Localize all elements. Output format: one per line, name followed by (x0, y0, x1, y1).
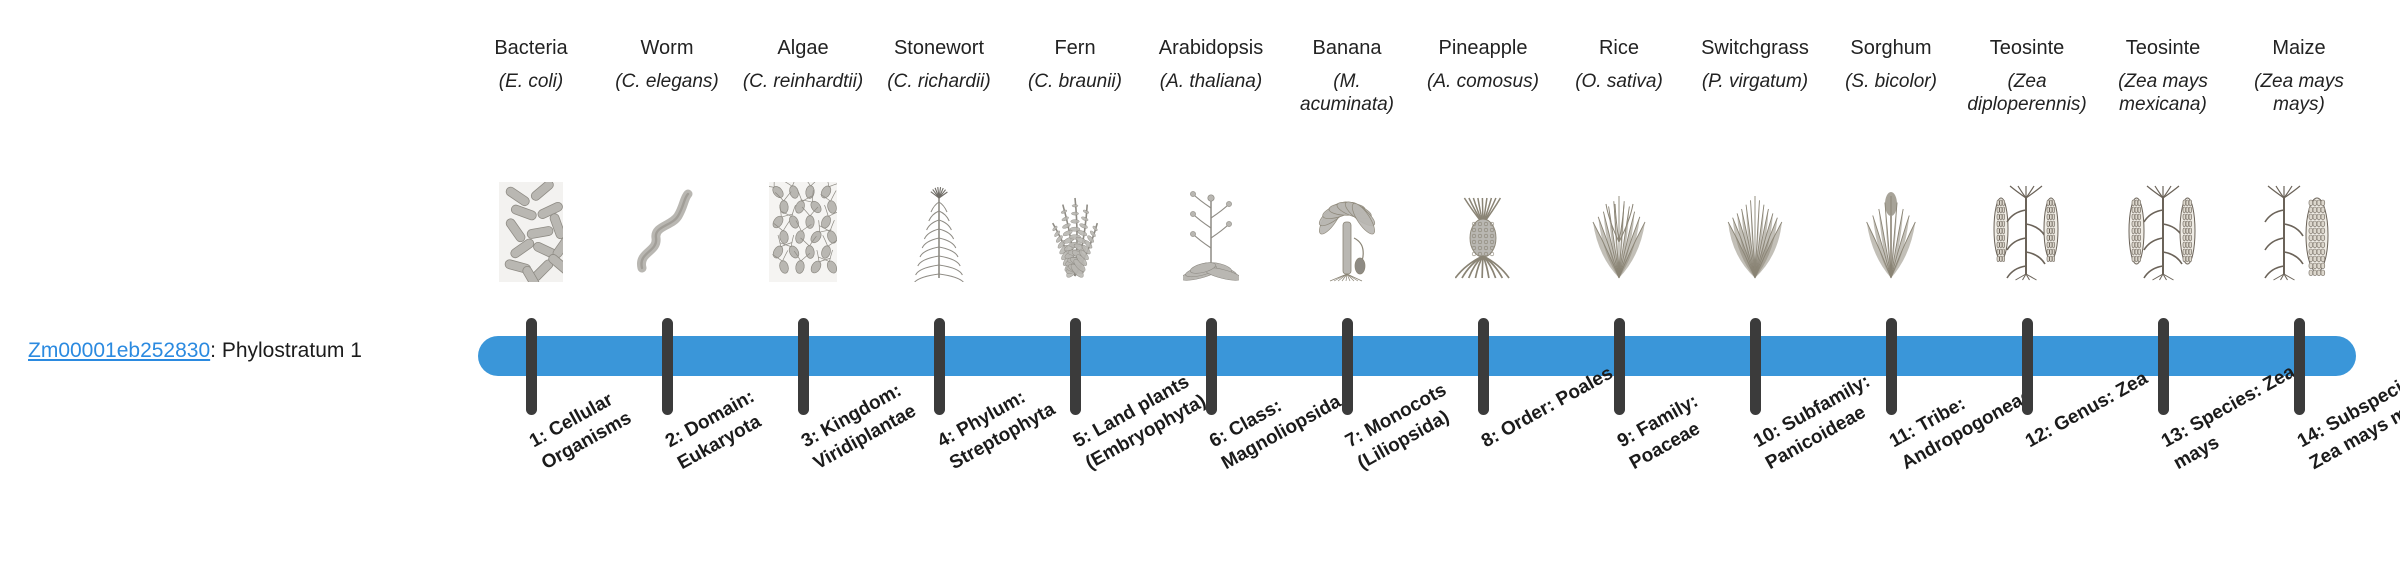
species-scientific-name: (Zea diploperennis) (1964, 70, 2090, 116)
species-common-name: Rice (1556, 36, 1682, 60)
phylostratum-rank: Family: Poaceae (1626, 391, 1704, 474)
species-scientific-name: (C. reinhardtii) (740, 70, 866, 116)
species-scientific-name: (C. elegans) (604, 70, 730, 116)
species-common-name: Worm (604, 36, 730, 60)
species-column-maize-13: Maize(Zea mays mays) (2236, 0, 2362, 116)
phylostratum-number: 2: (662, 426, 687, 453)
phylostratum-rank: Genus: Zea (2051, 368, 2152, 437)
phylostratum-rank: Tribe: Andropogoneae (1898, 385, 2036, 474)
phylostratum-rank: Species: Zea mays (2170, 362, 2298, 474)
species-common-name: Pineapple (1420, 36, 1546, 60)
phylostratum-rank: Land plants (Embryophyta) (1082, 371, 1209, 474)
phylostratum-tick-8[interactable] (1478, 318, 1489, 415)
phylostratum-rank: Cellular Organisms (538, 389, 635, 474)
phylostratum-number: 9: (1614, 426, 1639, 453)
phylostratum-tick-7[interactable] (1342, 318, 1353, 415)
phylostratum-tick-6[interactable] (1206, 318, 1217, 415)
species-column-bacteria-0: Bacteria(E. coli) (468, 0, 594, 116)
phylostratum-tick-3[interactable] (798, 318, 809, 415)
species-common-name: Stonewort (876, 36, 1002, 60)
species-column-stonewort-3: Stonewort(C. richardii) (876, 0, 1002, 116)
phylostratum-rank: Domain: Eukaryota (674, 386, 765, 474)
species-common-name: Fern (1012, 36, 1138, 60)
teosinte-diploperennis-illustration (1964, 172, 2090, 282)
bacteria-illustration (468, 172, 594, 282)
species-common-name: Sorghum (1828, 36, 1954, 60)
phylostratum-number: 5: (1070, 426, 1095, 453)
phylostratum-tick-1[interactable] (526, 318, 537, 415)
species-column-arabidopsis-5: Arabidopsis(A. thaliana) (1148, 0, 1274, 116)
species-scientific-name: (M. acuminata) (1284, 70, 1410, 116)
gene-phylostratum-label: Zm00001eb252830: Phylostratum 1 (28, 338, 448, 364)
gene-label-separator: : (210, 339, 222, 362)
sorghum-illustration (1828, 172, 1954, 282)
arabidopsis-illustration (1148, 172, 1274, 282)
species-scientific-name: (S. bicolor) (1828, 70, 1954, 116)
banana-illustration (1284, 172, 1410, 282)
phylostratum-number: 7: (1342, 426, 1367, 453)
species-column-algae-2: Algae(C. reinhardtii) (740, 0, 866, 116)
phylostratum-rank: Phylum: Streptophyta (946, 387, 1059, 474)
species-common-name: Bacteria (468, 36, 594, 60)
species-scientific-name: (Zea mays mexicana) (2100, 70, 2226, 116)
phylostratum-number: 8: (1478, 426, 1503, 453)
phylostratum-bar[interactable] (478, 336, 2356, 376)
phylostratum-tick-9[interactable] (1614, 318, 1625, 415)
phylostratum-tick-10[interactable] (1750, 318, 1761, 415)
gene-id-link[interactable]: Zm00001eb252830 (28, 339, 210, 362)
rice-illustration (1556, 172, 1682, 282)
phylostratum-tick-2[interactable] (662, 318, 673, 415)
phylostratum-number: 3: (798, 426, 823, 453)
algae-illustration (740, 172, 866, 282)
phylostratum-rank: Class: Magnoliopsida (1218, 391, 1345, 474)
gene-phylostratum-value: Phylostratum 1 (222, 339, 362, 362)
species-scientific-name: (C. richardii) (876, 70, 1002, 116)
species-column-pineapple-7: Pineapple(A. comosus) (1420, 0, 1546, 116)
species-common-name: Switchgrass (1692, 36, 1818, 60)
phylostratum-number: 6: (1206, 426, 1231, 453)
species-column-rice-8: Rice(O. sativa) (1556, 0, 1682, 116)
phylostratum-figure: Zm00001eb252830: Phylostratum 1 Bacteria… (0, 0, 2400, 580)
species-scientific-name: (A. thaliana) (1148, 70, 1274, 116)
phylostratum-tick-5[interactable] (1070, 318, 1081, 415)
worm-illustration (604, 172, 730, 282)
maize-illustration (2236, 172, 2362, 282)
phylostratum-tick-4[interactable] (934, 318, 945, 415)
species-column-teosinte-11: Teosinte(Zea diploperennis) (1964, 0, 2090, 116)
species-column-worm-1: Worm(C. elegans) (604, 0, 730, 116)
species-scientific-name: (C. braunii) (1012, 70, 1138, 116)
species-column-switchgrass-9: Switchgrass(P. virgatum) (1692, 0, 1818, 116)
stonewort-illustration (876, 172, 1002, 282)
species-common-name: Teosinte (1964, 36, 2090, 60)
species-scientific-name: (E. coli) (468, 70, 594, 116)
pineapple-illustration (1420, 172, 1546, 282)
phylostratum-number: 4: (934, 426, 959, 453)
species-common-name: Maize (2236, 36, 2362, 60)
phylostratum-tick-14[interactable] (2294, 318, 2305, 415)
species-common-name: Banana (1284, 36, 1410, 60)
species-column-banana-6: Banana(M. acuminata) (1284, 0, 1410, 116)
species-scientific-name: (A. comosus) (1420, 70, 1546, 116)
species-column-fern-4: Fern(C. braunii) (1012, 0, 1138, 116)
teosinte-mexicana-illustration (2100, 172, 2226, 282)
phylostratum-tick-12[interactable] (2022, 318, 2033, 415)
phylostratum-tick-11[interactable] (1886, 318, 1897, 415)
species-common-name: Arabidopsis (1148, 36, 1274, 60)
species-common-name: Algae (740, 36, 866, 60)
species-common-name: Teosinte (2100, 36, 2226, 60)
species-scientific-name: (Zea mays mays) (2236, 70, 2362, 116)
phylostratum-tick-13[interactable] (2158, 318, 2169, 415)
species-scientific-name: (P. virgatum) (1692, 70, 1818, 116)
species-column-sorghum-10: Sorghum(S. bicolor) (1828, 0, 1954, 116)
phylostratum-number: 1: (526, 426, 551, 453)
species-column-teosinte-12: Teosinte(Zea mays mexicana) (2100, 0, 2226, 116)
fern-illustration (1012, 172, 1138, 282)
species-scientific-name: (O. sativa) (1556, 70, 1682, 116)
switchgrass-illustration (1692, 172, 1818, 282)
phylostratum-number: 12: (2022, 420, 2056, 452)
